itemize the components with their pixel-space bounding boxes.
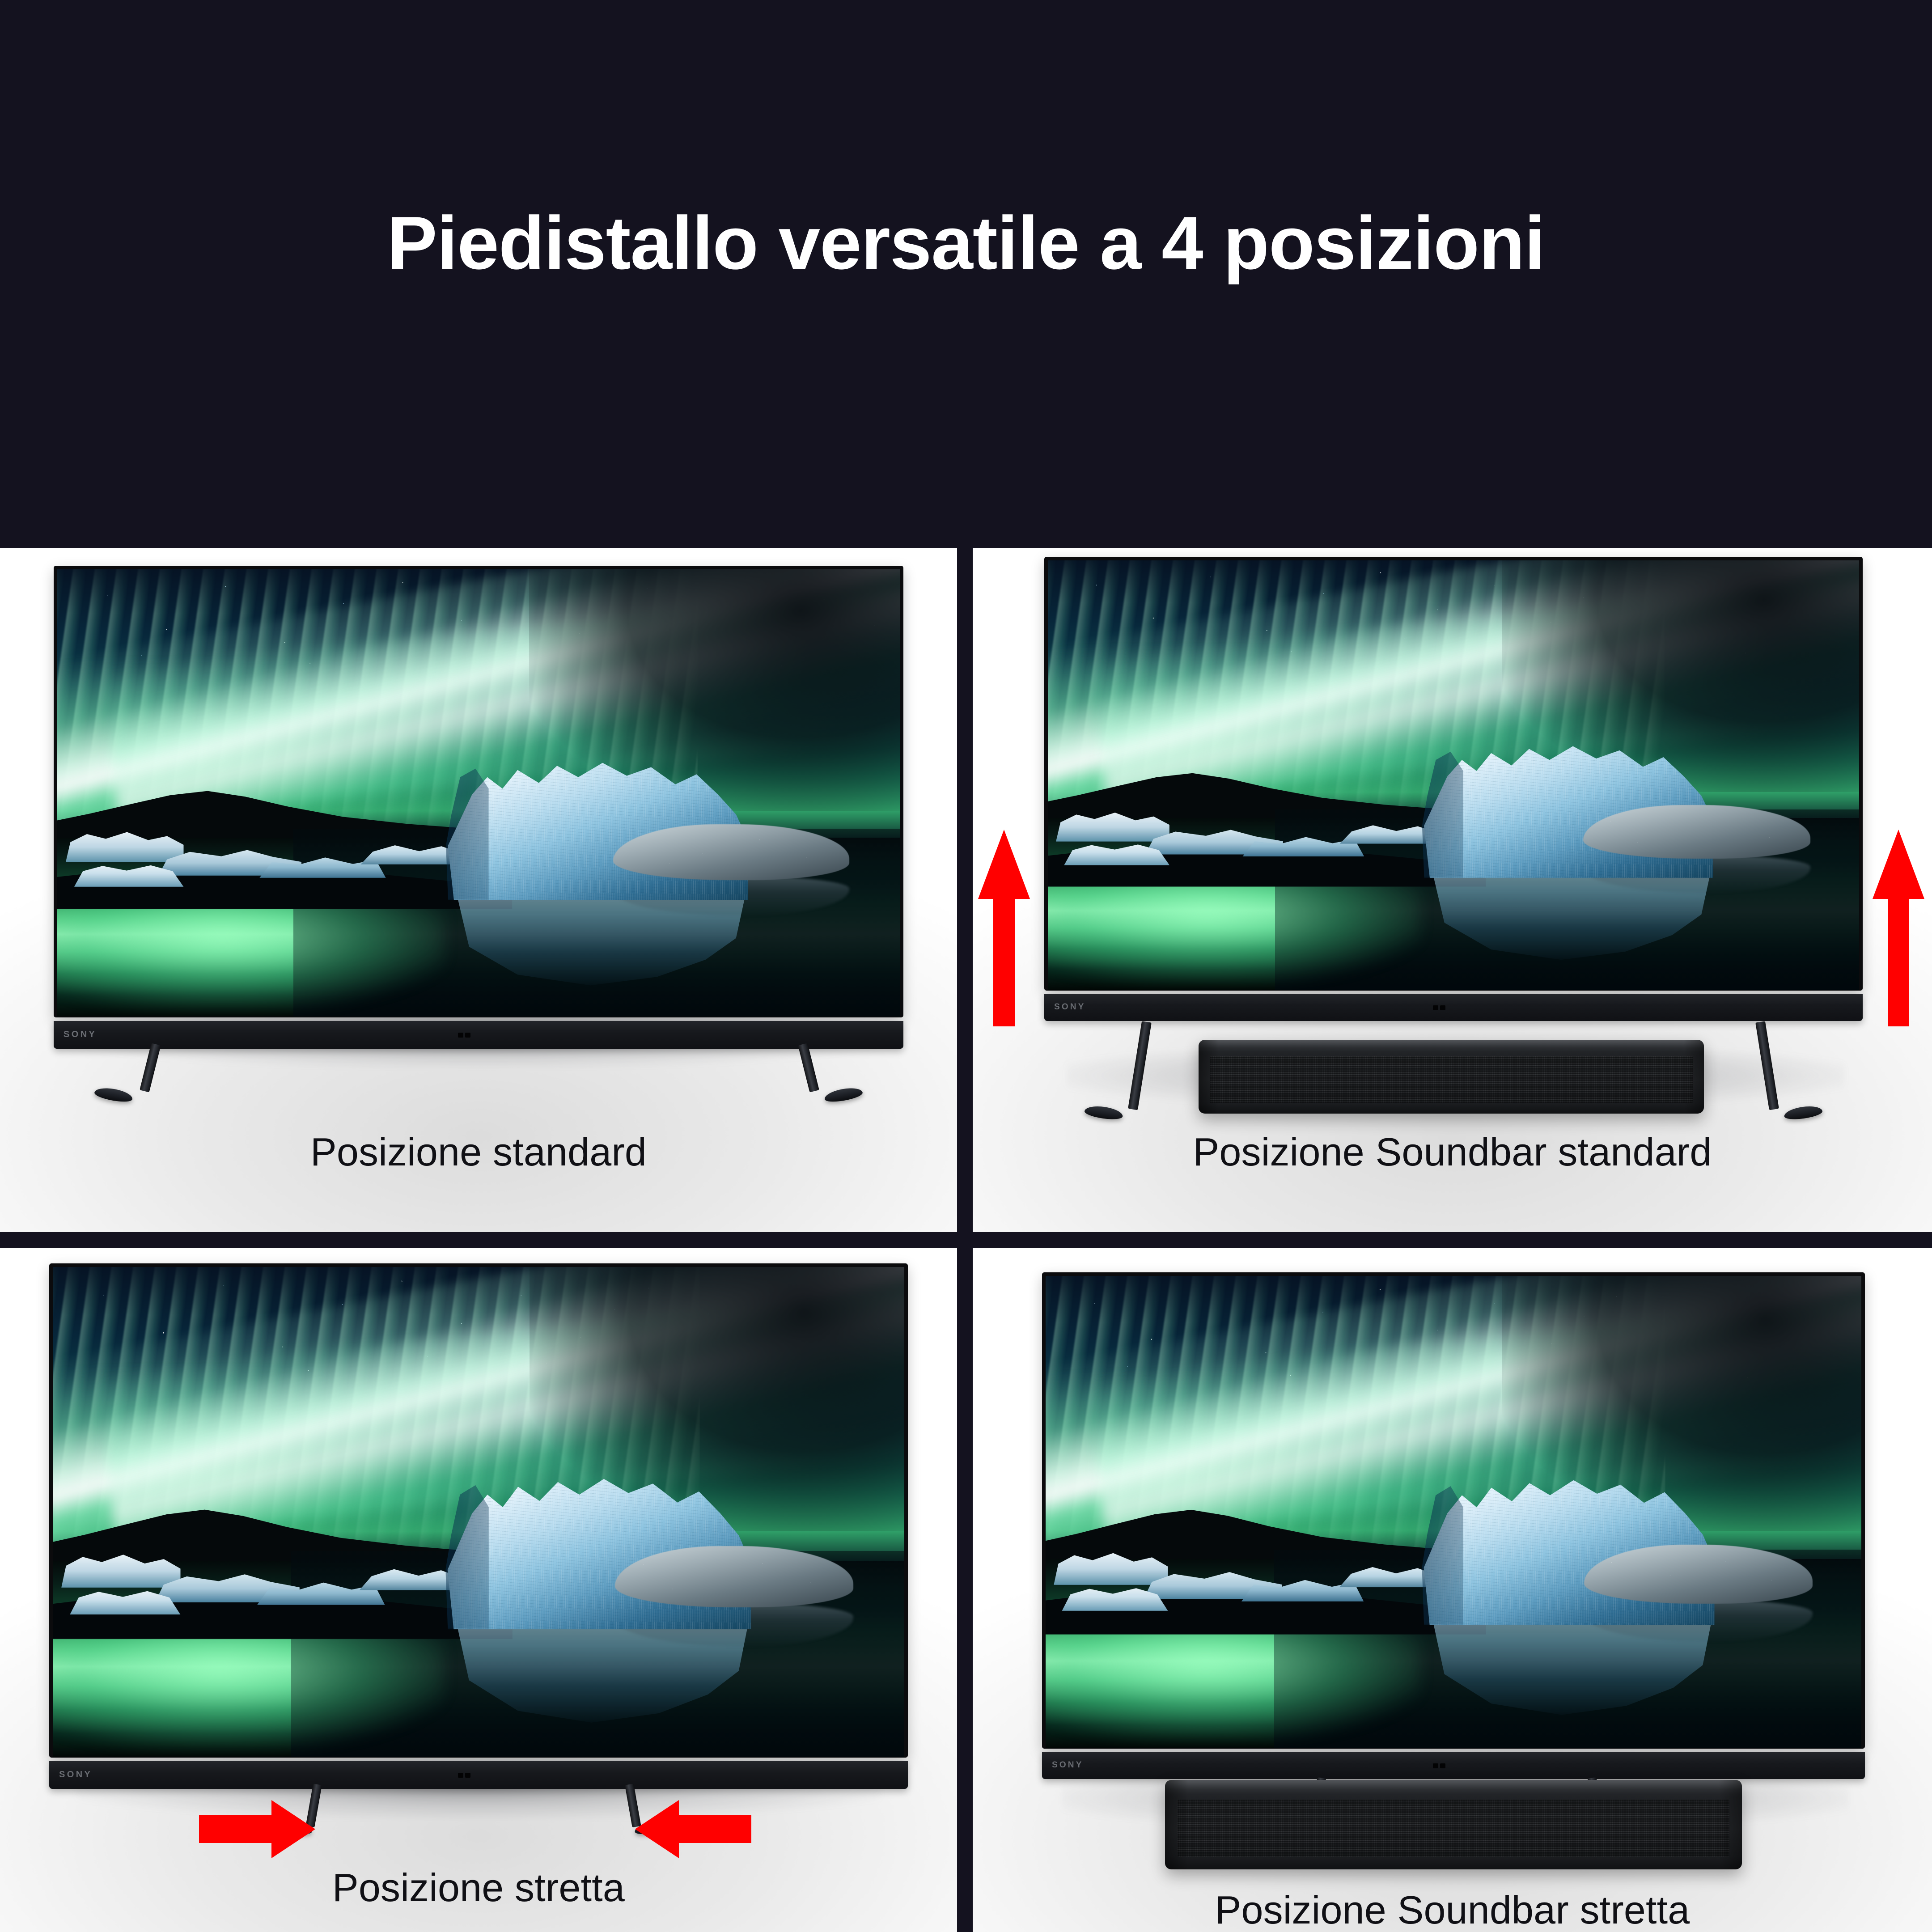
soundbar: [1165, 1780, 1742, 1869]
sony-logo: SONY: [1052, 1761, 1084, 1769]
panel-caption-soundbar-standard: Posizione Soundbar standard: [973, 1129, 1932, 1175]
tv-soundbar-narrow: SONY: [1042, 1272, 1865, 1782]
panel-soundbar-narrow[interactable]: SONY Posizione Soundbar stretta: [973, 1248, 1932, 1932]
tv-leg-left-raised: [1085, 1022, 1156, 1123]
soundbar-grille: [1178, 1800, 1729, 1857]
panel-caption-narrow: Posizione stretta: [0, 1865, 957, 1911]
header-banner: Piedistallo versatile a 4 posizioni: [0, 0, 1932, 548]
panel-narrow[interactable]: SONY: [0, 1248, 957, 1932]
tv-narrow: SONY: [49, 1263, 908, 1796]
tv-bottom-bezel: SONY: [54, 1021, 903, 1049]
tv-soundbar-standard: SONY: [1044, 557, 1863, 1031]
arrow-left-inward-icon: [635, 1800, 751, 1858]
soundbar-right-edge: [1684, 1040, 1704, 1114]
soundbar-top-edge: [1199, 1040, 1704, 1055]
tv-screen: [1048, 560, 1859, 990]
page-title: Piedistallo versatile a 4 posizioni: [387, 203, 1545, 282]
tv-bottom-bezel: SONY: [1042, 1752, 1865, 1779]
panel-caption-standard: Posizione standard: [0, 1129, 957, 1175]
tv-body: [49, 1263, 908, 1758]
product-feature-graphic: Piedistallo versatile a 4 posizioni: [0, 0, 1932, 1932]
ir-sensor-icon: [458, 1773, 463, 1778]
tv-leg-right-raised: [1751, 1022, 1822, 1123]
ir-sensor-icon: [458, 1033, 463, 1038]
tv-body: [1044, 557, 1863, 991]
tv-leg-left: [96, 1044, 163, 1102]
panel-caption-soundbar-narrow: Posizione Soundbar stretta: [973, 1887, 1932, 1932]
sony-logo: SONY: [1054, 1003, 1086, 1011]
soundbar-top-edge: [1165, 1780, 1742, 1798]
tv-screen: [1046, 1276, 1861, 1748]
ir-sensor-icon: [1433, 1763, 1438, 1768]
panel-grid: SONY Posizione standard: [0, 548, 1932, 1932]
soundbar-right-edge: [1719, 1780, 1742, 1869]
soundbar: [1199, 1040, 1704, 1114]
soundbar-left-edge: [1199, 1040, 1219, 1114]
tv-leg-right: [794, 1044, 861, 1102]
arrow-up-left-icon: [977, 830, 1031, 1026]
arrow-up-right-icon: [1872, 830, 1925, 1026]
sony-logo: SONY: [64, 1030, 97, 1039]
tv-screen: [53, 1267, 904, 1757]
soundbar-left-edge: [1165, 1780, 1188, 1869]
tv-body: [54, 566, 903, 1017]
tv-body: [1042, 1272, 1865, 1749]
arrow-right-inward-icon: [199, 1800, 315, 1858]
panel-standard[interactable]: SONY Posizione standard: [0, 548, 957, 1232]
soundbar-grille: [1210, 1056, 1693, 1103]
tv-bottom-bezel: SONY: [1044, 994, 1863, 1021]
panel-soundbar-standard[interactable]: SONY: [973, 548, 1932, 1232]
sony-logo: SONY: [59, 1770, 92, 1779]
tv-bottom-bezel: SONY: [49, 1761, 908, 1789]
ir-sensor-icon: [1433, 1005, 1438, 1010]
tv-screen: [57, 569, 900, 1017]
tv-standard: SONY: [54, 566, 903, 1053]
